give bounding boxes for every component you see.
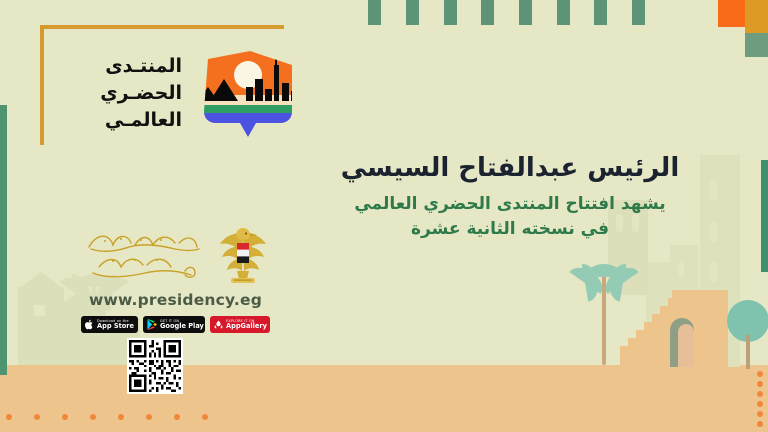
decor-dot <box>6 414 12 420</box>
top-bar <box>406 0 419 25</box>
apple-icon <box>85 315 94 334</box>
decor-dot <box>202 414 208 420</box>
poster-canvas: المنتـدى الحضـري العالمـي <box>0 0 768 432</box>
decor-dot <box>757 421 763 427</box>
app-badges: Download on the App Store GET IT ON Goo <box>68 316 283 333</box>
top-bar <box>519 0 532 25</box>
top-bar <box>481 0 494 25</box>
sand-ground <box>0 365 768 432</box>
logo-frame-top <box>40 25 284 29</box>
google-play-icon <box>147 315 157 334</box>
huawei-icon <box>214 315 223 334</box>
presidency-url[interactable]: www.presidency.eg <box>68 291 283 309</box>
app-gallery-badge-label: AppGallery <box>226 323 267 330</box>
app-store-badge[interactable]: Download on the App Store <box>81 316 138 333</box>
wuf-logo-text: المنتـدى الحضـري العالمـي <box>62 53 182 134</box>
headline-subtitle-line-1: يشهد افتتاح المنتدى الحضري العالمي <box>300 192 720 218</box>
orange-square <box>718 0 745 27</box>
decor-dot <box>757 411 763 417</box>
qr-code[interactable] <box>127 338 183 394</box>
ghost-window <box>678 262 684 278</box>
decor-dot <box>757 401 763 407</box>
arched-doorway-inner <box>678 324 694 367</box>
google-play-badge[interactable]: GET IT ON Google Play <box>143 316 205 333</box>
top-bar <box>444 0 457 25</box>
top-bar <box>557 0 570 25</box>
app-gallery-badge[interactable]: EXPLORE IT ON AppGallery <box>210 316 270 333</box>
right-edge-stripe <box>761 160 768 272</box>
decor-dot <box>174 414 180 420</box>
decor-dot <box>757 371 763 377</box>
logo-frame-left <box>40 25 44 145</box>
green-square <box>745 33 768 57</box>
top-bar <box>632 0 645 25</box>
decor-dot <box>757 391 763 397</box>
headline-subtitle-line-2: في نسخته الثانية عشرة <box>300 217 720 243</box>
wuf-logo: المنتـدى الحضـري العالمـي <box>40 25 290 145</box>
palm-tree <box>560 240 650 365</box>
top-bar <box>368 0 381 25</box>
page-title: الرئيس عبدالفتاح السيسي <box>300 152 720 185</box>
left-edge-stripe <box>0 105 7 375</box>
wuf-logo-line-2: الحضـري <box>62 80 182 107</box>
eagle-of-saladin-emblem <box>217 226 269 286</box>
decor-dot <box>62 414 68 420</box>
ghost-window <box>710 262 717 282</box>
decor-dot <box>757 381 763 387</box>
google-play-badge-label: Google Play <box>160 323 204 330</box>
wuf-city-skyline-pin-mark <box>190 49 306 157</box>
wuf-logo-line-3: العالمـي <box>62 107 182 134</box>
top-bar <box>594 0 607 25</box>
decor-dot <box>146 414 152 420</box>
round-tree-trunk <box>746 335 750 369</box>
wuf-logo-line-1: المنتـدى <box>62 53 182 80</box>
presidency-block: www.presidency.eg Download on the App St… <box>68 225 283 333</box>
decor-dot <box>34 414 40 420</box>
app-store-badge-label: App Store <box>97 323 134 330</box>
decor-dot <box>90 414 96 420</box>
amber-square <box>745 0 768 33</box>
headline-block: الرئيس عبدالفتاح السيسي يشهد افتتاح المن… <box>300 152 720 243</box>
presidency-calligraphy <box>83 227 203 285</box>
decor-dot <box>118 414 124 420</box>
